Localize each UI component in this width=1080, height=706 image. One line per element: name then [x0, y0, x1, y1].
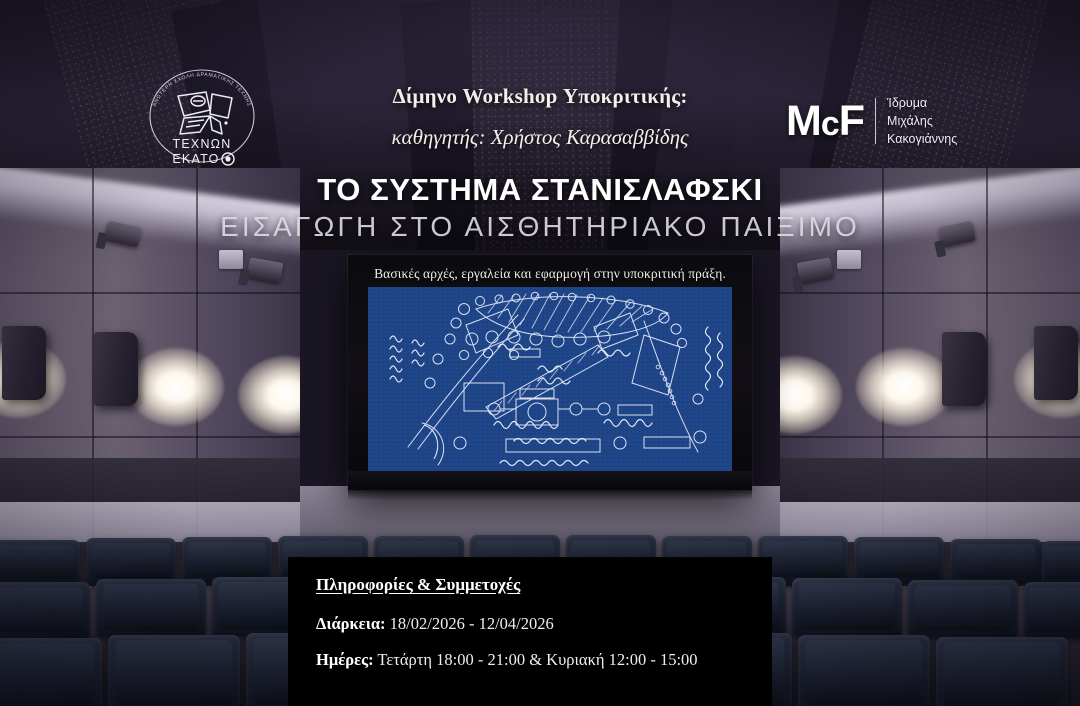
seat: [0, 582, 90, 638]
wall-sconce-light: [856, 348, 952, 426]
seat: [0, 638, 102, 706]
workshop-kicker: Δίμηνο Workshop Υποκριτικής:: [0, 84, 1080, 109]
info-label-duration: Διάρκεια:: [316, 614, 386, 633]
seat: [0, 540, 80, 584]
page-title: ΤΟ ΣΥΣΤΗΜΑ ΣΤΑΝΙΣΛΑΦΣΚΙ: [0, 172, 1080, 208]
screen-base: [348, 486, 752, 500]
seat: [1024, 582, 1080, 638]
info-label-days: Ημέρες:: [316, 650, 374, 669]
seat: [854, 537, 944, 583]
seat: [792, 578, 902, 636]
info-row-days: Ημέρες: Τετάρτη 18:00 - 21:00 & Κυριακή …: [316, 650, 772, 670]
stanislavski-diagram: [368, 287, 732, 471]
seat: [950, 539, 1042, 584]
seat: [798, 635, 930, 706]
info-row-duration: Διάρκεια: 18/02/2026 - 12/04/2026: [316, 614, 772, 634]
seat: [936, 637, 1068, 706]
wall-speaker: [2, 326, 46, 400]
info-value-duration: 18/02/2026 - 12/04/2026: [390, 614, 554, 633]
info-heading: Πληροφορίες & Συμμετοχές: [316, 575, 772, 595]
seat: [108, 635, 240, 706]
instructor-line: καθηγητής: Χρήστος Καρασαββίδης: [0, 125, 1080, 150]
screen-tagline: Βασικές αρχές, εργαλεία και εφαρμογή στη…: [348, 261, 752, 287]
info-value-days: Τετάρτη 18:00 - 21:00 & Κυριακή 12:00 - …: [377, 650, 697, 669]
ekato-line2: ΕΚΑΤΟ: [172, 152, 219, 166]
ekato-logo: ΑΝΩΤΕΡΗ ΣΧΟΛΗ ΔΡΑΜΑΤΙΚΗΣ ΤΕΧΝΗΣ ΤΕΧΝΩΝ Ε…: [140, 60, 264, 172]
info-panel: Πληροφορίες & Συμμετοχές Διάρκεια: 18/02…: [288, 557, 772, 706]
wall-speaker: [94, 332, 138, 406]
projection-screen: Βασικές αρχές, εργαλεία και εφαρμογή στη…: [348, 255, 752, 490]
wall-control-box: [219, 250, 243, 269]
wall-sconce-light: [128, 348, 224, 426]
wall-speaker: [1034, 326, 1078, 400]
seat: [86, 538, 176, 584]
wall-control-box: [837, 250, 861, 269]
seat: [908, 580, 1018, 637]
poster-canvas: Βασικές αρχές, εργαλεία και εφαρμογή στη…: [0, 0, 1080, 706]
page-subtitle: ΕΙΣΑΓΩΓΗ ΣΤΟ ΑΙΣΘΗΤΗΡΙΑΚΟ ΠΑΙΞΙΜΟ: [0, 211, 1080, 243]
wall-speaker: [942, 332, 986, 406]
seat: [1042, 541, 1080, 585]
seat: [96, 579, 206, 637]
